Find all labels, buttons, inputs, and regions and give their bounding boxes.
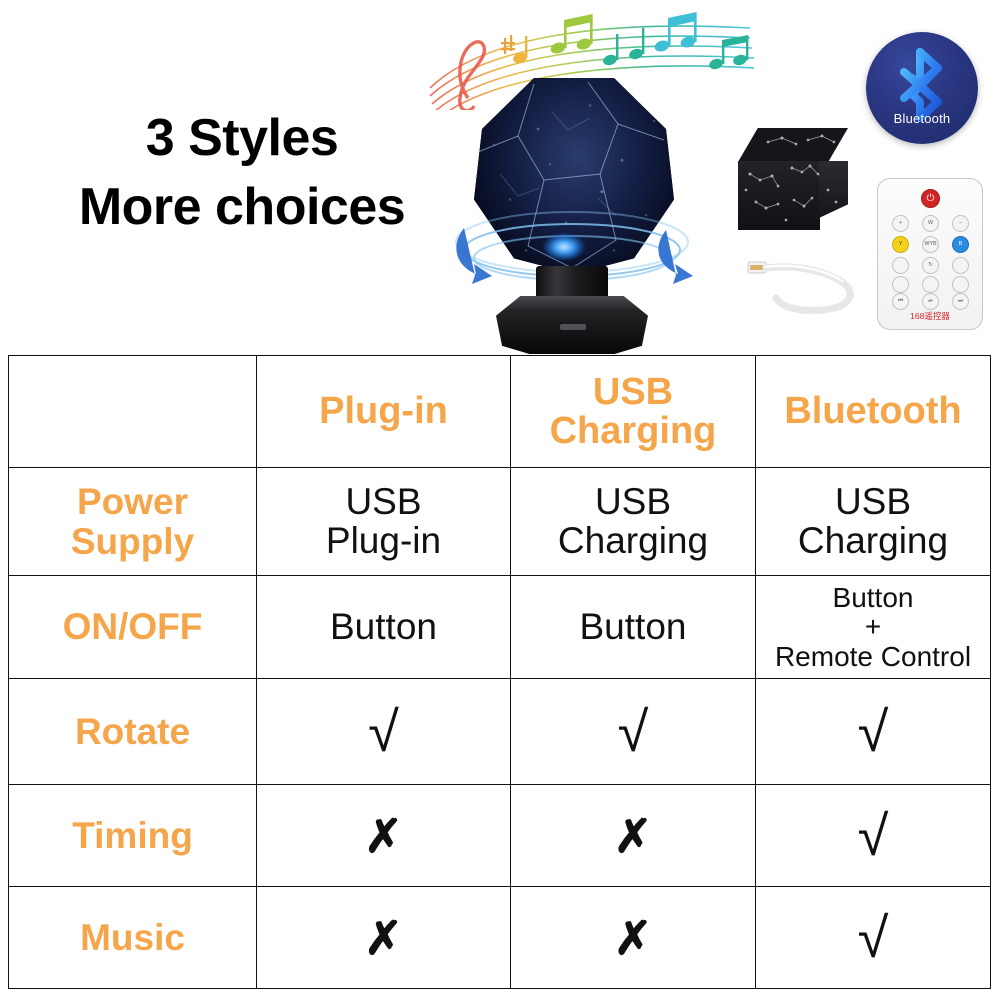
header-usb-line1: USB [593, 371, 673, 413]
constellation-gift-box [738, 128, 848, 230]
remote-button-10min [892, 276, 909, 293]
hero-section: 3 Styles More choices [0, 0, 1000, 355]
cell-onoff-bt-l2: + [760, 612, 986, 641]
cell-power-bt-l2: Charging [760, 522, 986, 561]
cell-rotate-bluetooth: √ [756, 679, 991, 785]
cell-rotate-usb: √ [511, 679, 756, 785]
comparison-table: Plug-in USB Charging Bluetooth Power Sup… [8, 355, 991, 989]
row-label-power-supply: Power Supply [9, 468, 257, 576]
remote-button-dim [892, 257, 909, 274]
row-label-timing: Timing [9, 785, 257, 887]
row-label-power-line2: Supply [71, 521, 194, 562]
row-label-music: Music [9, 887, 257, 989]
cell-power-plugin: USB Plug-in [257, 468, 511, 576]
table-row-power-supply: Power Supply USB Plug-in USB Charging US… [9, 468, 991, 576]
bluetooth-badge-label: Bluetooth [866, 111, 978, 126]
cell-timing-usb: ✗ [511, 785, 756, 887]
remote-button-b: B [952, 236, 969, 253]
cell-power-usb: USB Charging [511, 468, 756, 576]
bluetooth-badge: Bluetooth [866, 32, 978, 144]
remote-button-bright-up [922, 276, 939, 293]
header-cell-bluetooth: Bluetooth [756, 356, 991, 468]
header-cell-usb-charging: USB Charging [511, 356, 756, 468]
cell-power-bt-l1: USB [835, 481, 911, 522]
cell-music-plugin: ✗ [257, 887, 511, 989]
row-label-rotate: Rotate [9, 679, 257, 785]
cell-rotate-plugin: √ [257, 679, 511, 785]
table-row-onoff: ON/OFF Button Button Button + Remote Con… [9, 576, 991, 679]
cell-onoff-bt-l1: Button [833, 582, 914, 613]
remote-button-60min [952, 276, 969, 293]
header-cell-plugin: Plug-in [257, 356, 511, 468]
remote-button-y: Y [892, 236, 909, 253]
remote-power-button: ⏻ [921, 189, 940, 208]
cell-onoff-bt-l3: Remote Control [760, 642, 986, 671]
remote-button-cycle: ↻ [922, 257, 939, 274]
cell-timing-plugin: ✗ [257, 785, 511, 887]
cell-onoff-bluetooth: Button + Remote Control [756, 576, 991, 679]
infographic-page: 3 Styles More choices [0, 0, 1000, 1000]
cell-onoff-usb: Button [511, 576, 756, 679]
headline-line-1: 3 Styles [146, 109, 339, 167]
table-row-timing: Timing ✗ ✗ √ [9, 785, 991, 887]
remote-button-wyb: WYB [922, 236, 939, 253]
gift-box-constellation-print [738, 128, 848, 230]
table-row-music: Music ✗ ✗ √ [9, 887, 991, 989]
remote-button-play: ⏯ [922, 293, 939, 310]
cell-power-bluetooth: USB Charging [756, 468, 991, 576]
header-usb-line2: Charging [550, 410, 717, 452]
cell-music-usb: ✗ [511, 887, 756, 989]
star-projector-lamp [448, 78, 698, 355]
lamp-usb-port [560, 324, 586, 330]
cell-power-plugin-l2: Plug-in [261, 522, 506, 561]
remote-control: ⏻ + W − Y WYB B ↻ ⏮ ⏯ ⏭ 168遥控器 [877, 178, 983, 330]
page-title: 3 Styles More choices [52, 104, 432, 241]
cell-power-plugin-l1: USB [345, 481, 421, 522]
remote-button-prev: ⏮ [892, 293, 909, 310]
remote-button-next: ⏭ [952, 293, 969, 310]
row-label-power-line1: Power [77, 481, 188, 522]
table-header-row: Plug-in USB Charging Bluetooth [9, 356, 991, 468]
cell-power-usb-l2: Charging [515, 522, 751, 561]
remote-button-plus: + [892, 215, 909, 232]
table-row-rotate: Rotate √ √ √ [9, 679, 991, 785]
remote-model-label: 168遥控器 [878, 310, 982, 322]
remote-button-w: W [922, 215, 939, 232]
header-cell-empty [9, 356, 257, 468]
cell-music-bluetooth: √ [756, 887, 991, 989]
lamp-led-glow [544, 234, 584, 260]
cell-onoff-plugin: Button [257, 576, 511, 679]
usb-cable [746, 250, 866, 320]
headline-line-2: More choices [52, 173, 432, 242]
remote-button-flash [952, 257, 969, 274]
remote-button-minus: − [952, 215, 969, 232]
cell-power-usb-l1: USB [595, 481, 671, 522]
cell-timing-bluetooth: √ [756, 785, 991, 887]
row-label-onoff: ON/OFF [9, 576, 257, 679]
bluetooth-icon [866, 32, 978, 144]
